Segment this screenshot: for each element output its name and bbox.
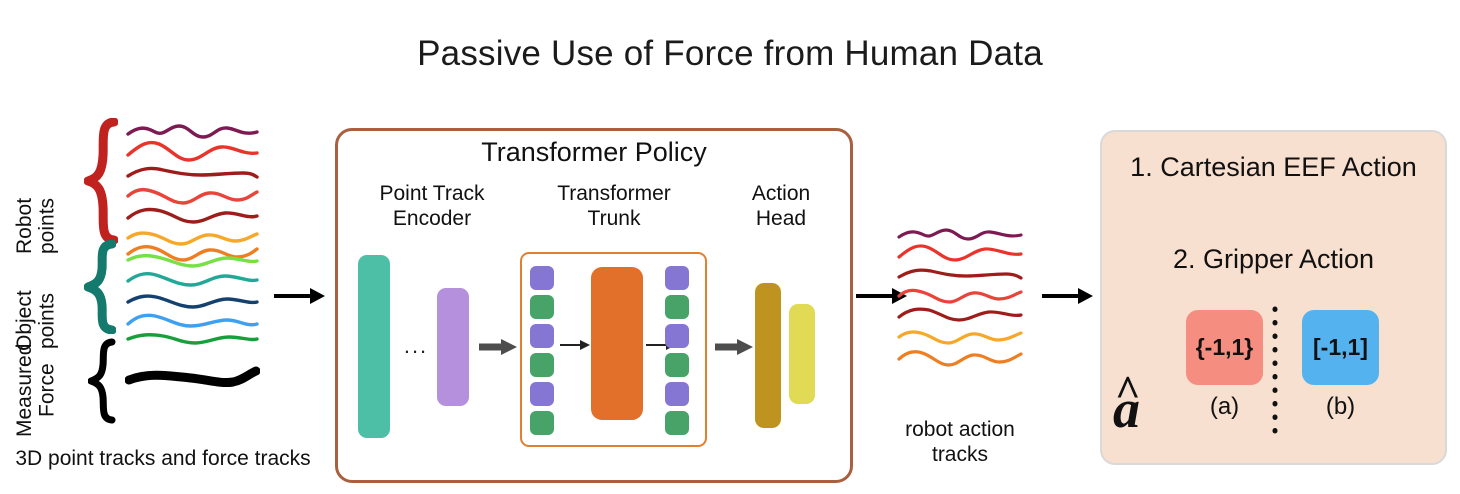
- trunk-token: [530, 324, 554, 348]
- brace-measured-force: [88, 338, 116, 424]
- page-title: Passive Use of Force from Human Data: [0, 34, 1460, 74]
- arrow-tokens-to-core: [560, 338, 590, 352]
- trunk-token: [530, 295, 554, 319]
- trunk-token: [665, 382, 689, 406]
- tracks-robot-points: [125, 120, 260, 250]
- arrow-encoder-to-trunk: [478, 337, 518, 357]
- trunk-token: [530, 411, 554, 435]
- arrow-output-to-action-panel: [1040, 285, 1094, 307]
- block-label-action-head: Action Head: [712, 182, 850, 231]
- tracks-robot-action: [896, 226, 1024, 378]
- encoder-bar-primary: [358, 255, 390, 438]
- trunk-token: [665, 266, 689, 290]
- block-label-transformer-trunk: Transformer Trunk: [530, 182, 698, 231]
- trunk-token: [530, 266, 554, 290]
- gripper-option-b-label: (b): [1302, 393, 1379, 421]
- figure-canvas: Passive Use of Force from Human Data Rob…: [0, 0, 1460, 494]
- output-caption: robot action tracks: [884, 418, 1036, 468]
- brace-robot-points: [84, 118, 118, 244]
- trunk-token: [530, 382, 554, 406]
- action-line-gripper: 2. Gripper Action: [1100, 244, 1447, 275]
- option-divider: [1272, 306, 1277, 434]
- gripper-range-box-b[interactable]: [-1,1]: [1302, 310, 1379, 385]
- tracks-measured-force: [125, 362, 260, 392]
- trunk-token: [665, 295, 689, 319]
- action-line-cartesian-eef: 1. Cartesian EEF Action: [1100, 152, 1447, 183]
- input-caption: 3D point tracks and force tracks: [4, 447, 322, 472]
- trunk-token: [665, 353, 689, 377]
- gripper-range-a-text: {-1,1}: [1196, 334, 1254, 361]
- encoder-bar-secondary: [437, 288, 469, 406]
- brace-object-points: [84, 240, 116, 334]
- group-label-measured-force: Measured Force: [14, 330, 66, 450]
- block-label-point-track-encoder: Point Track Encoder: [348, 182, 516, 231]
- hat-accent: ^: [1115, 370, 1141, 414]
- arrow-trunk-to-head: [714, 337, 754, 357]
- gripper-range-b-text: [-1,1]: [1313, 334, 1368, 361]
- trunk-core-block: [591, 267, 643, 420]
- tracks-object-points: [125, 250, 260, 346]
- arrow-input-to-policy: [272, 285, 326, 307]
- trunk-token: [665, 324, 689, 348]
- encoder-ellipsis: ...: [398, 333, 434, 359]
- trunk-token: [665, 411, 689, 435]
- trunk-token: [530, 353, 554, 377]
- action-head-bar-secondary: [789, 304, 815, 404]
- gripper-option-a-label: (a): [1186, 393, 1263, 421]
- action-head-bar-primary: [755, 283, 781, 428]
- gripper-range-box-a[interactable]: {-1,1}: [1186, 310, 1263, 385]
- policy-title: Transformer Policy: [335, 137, 853, 168]
- a-hat-symbol: ^ a: [1113, 382, 1140, 436]
